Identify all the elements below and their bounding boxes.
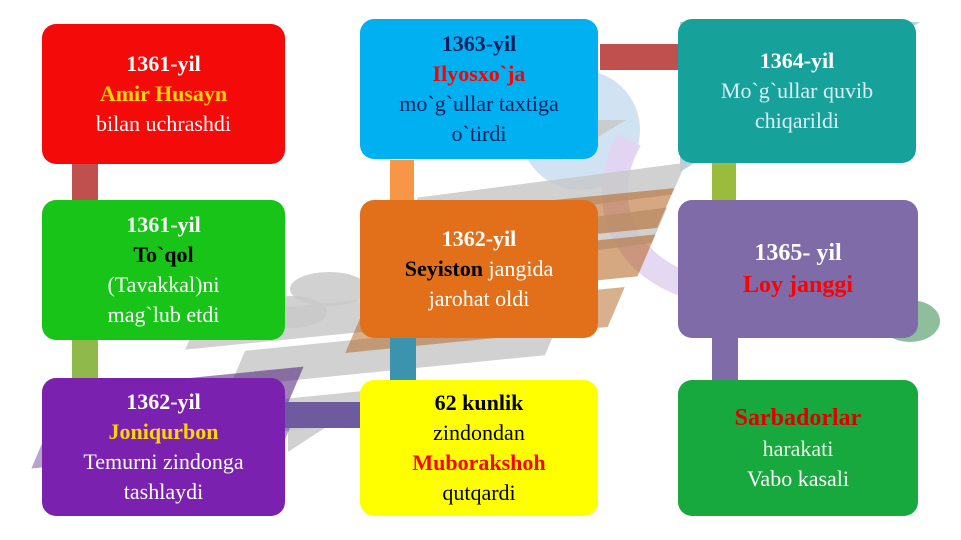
box-line: chiqarildi: [688, 108, 906, 134]
box-62-kunlik[interactable]: 62 kunlikzindondanMuborakshohqutqardi: [360, 380, 598, 516]
box-line: 1361-yil: [52, 212, 275, 238]
connector-yellowgreen-vertical: [712, 160, 736, 204]
box-line: tashlaydi: [52, 479, 275, 505]
box-1362-joniqurbon[interactable]: 1362-yilJoniqurbonTemurni zindongatashla…: [42, 378, 285, 516]
connector-orange-vertical: [390, 160, 414, 204]
box-1363-ilyosxoja[interactable]: 1363-yilIlyosxo`jamo`g`ullar taxtigao`ti…: [360, 19, 598, 159]
slide-canvas: 1361-yilAmir Husaynbilan uchrashdi 1363-…: [0, 0, 961, 540]
box-line: o`tirdi: [370, 121, 588, 147]
box-line: 1362-yil: [52, 389, 275, 415]
box-line: mo`g`ullar taxtiga: [370, 91, 588, 117]
box-line: 1362-yil: [370, 226, 588, 252]
box-line: 1363-yil: [370, 31, 588, 57]
box-line: Joniqurbon: [52, 419, 275, 445]
box-1361-toqol[interactable]: 1361-yilTo`qol(Tavakkal)nimag`lub etdi: [42, 200, 285, 340]
box-line: qutqardi: [370, 480, 588, 506]
connector-purple-vertical: [712, 338, 738, 382]
connector-red-vertical: [72, 162, 98, 204]
box-line: Ilyosxo`ja: [370, 61, 588, 87]
watermark-shape: [290, 272, 368, 306]
box-line: Temurni zindonga: [52, 449, 275, 475]
box-line: bilan uchrashdi: [52, 111, 275, 137]
box-line: Sarbadorlar: [688, 404, 908, 432]
box-line: jarohat oldi: [370, 286, 588, 312]
box-1365-loy-janggi[interactable]: 1365- yilLoy janggi: [678, 200, 918, 338]
box-line: Loy janggi: [688, 271, 908, 299]
box-line: 1361-yil: [52, 51, 275, 77]
box-line: 62 kunlik: [370, 390, 588, 416]
box-line: Amir Husayn: [52, 81, 275, 107]
box-sarbadorlar[interactable]: SarbadorlarharakatiVabo kasali: [678, 380, 918, 516]
box-1364-mogullar[interactable]: 1364-yilMo`g`ullar quvibchiqarildi: [678, 19, 916, 163]
box-line: 1365- yil: [688, 239, 908, 267]
connector-teal-vertical: [390, 338, 416, 382]
box-line: zindondan: [370, 420, 588, 446]
box-line: (Tavakkal)ni: [52, 272, 275, 298]
connector-green-vertical: [72, 340, 98, 380]
box-line: mag`lub etdi: [52, 302, 275, 328]
box-line: 1364-yil: [688, 48, 906, 74]
box-line: To`qol: [52, 242, 275, 268]
box-line: Vabo kasali: [688, 466, 908, 492]
box-1362-seyiston[interactable]: 1362-yilSeyiston jangidajarohat oldi: [360, 200, 598, 338]
box-1361-amir-husayn[interactable]: 1361-yilAmir Husaynbilan uchrashdi: [42, 24, 285, 164]
box-line: Mo`g`ullar quvib: [688, 78, 906, 104]
box-line: Seyiston jangida: [370, 256, 588, 282]
box-line: Muborakshoh: [370, 450, 588, 476]
box-line: harakati: [688, 436, 908, 462]
box-line-emphasis: Seyiston: [405, 256, 483, 281]
